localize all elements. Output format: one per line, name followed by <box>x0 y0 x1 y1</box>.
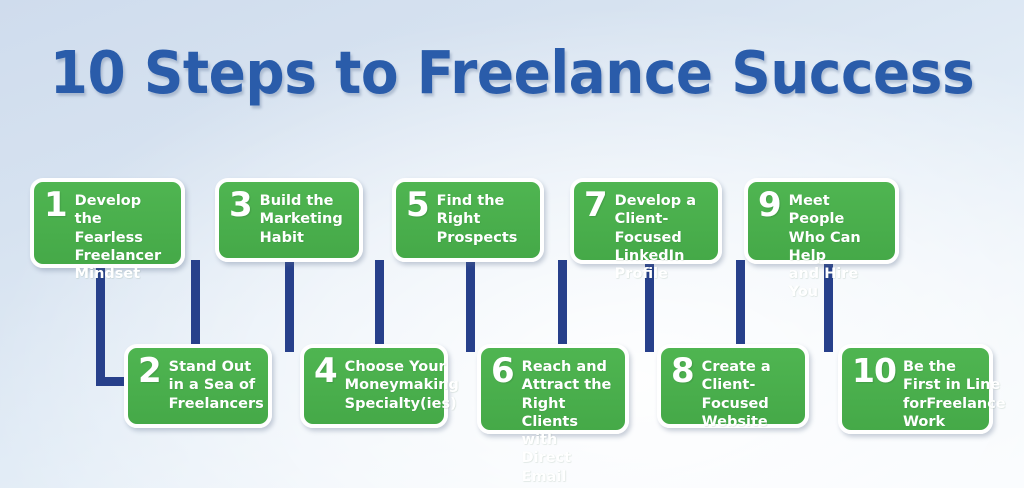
step-label-10: Be the First in Line forFreelance Work <box>903 358 1006 431</box>
step-number-6: 6 <box>491 357 522 386</box>
step-label-1: Develop the Fearless Freelancer Mindset <box>75 192 172 283</box>
step-box-10[interactable]: 10 Be the First in Line forFreelance Wor… <box>838 344 993 434</box>
connector-4-to-5 <box>375 260 384 352</box>
step-box-3[interactable]: 3 Build the Marketing Habit <box>215 178 363 262</box>
connector-6-to-7 <box>558 260 567 352</box>
step-number-5: 5 <box>406 191 437 220</box>
step-label-9: Meet People Who Can Help and Hire You <box>789 192 886 302</box>
step-box-6[interactable]: 6 Reach and Attract the Right Clients wi… <box>477 344 629 434</box>
step-label-2: Stand Out in a Sea of Freelancers <box>169 358 264 413</box>
step-box-4[interactable]: 4 Choose Your Moneymaking Specialty(ies) <box>300 344 448 428</box>
step-label-4: Choose Your Moneymaking Specialty(ies) <box>345 358 459 413</box>
step-box-9[interactable]: 9 Meet People Who Can Help and Hire You <box>744 178 899 264</box>
step-number-3: 3 <box>229 191 260 220</box>
connector-3-to-4 <box>285 260 294 352</box>
connector-2-to-3 <box>191 260 200 352</box>
step-box-2[interactable]: 2 Stand Out in a Sea of Freelancers <box>124 344 272 428</box>
step-number-9: 9 <box>758 191 789 220</box>
connector-5-to-6 <box>466 260 475 352</box>
step-label-5: Find the Right Prospects <box>437 192 531 247</box>
step-number-1: 1 <box>44 191 75 220</box>
step-label-6: Reach and Attract the Right Clients with… <box>522 358 616 486</box>
step-box-5[interactable]: 5 Find the Right Prospects <box>392 178 544 262</box>
infographic-canvas: 10 Steps to Freelance Success 1 Develop … <box>0 0 1024 488</box>
step-number-7: 7 <box>584 191 615 220</box>
step-box-1[interactable]: 1 Develop the Fearless Freelancer Mindse… <box>30 178 185 268</box>
step-label-8: Create a Client-Focused Website <box>702 358 796 431</box>
step-label-3: Build the Marketing Habit <box>260 192 350 247</box>
step-number-4: 4 <box>314 357 345 386</box>
connector-8-to-9 <box>736 260 745 352</box>
step-label-7: Develop a Client-Focused LinkedIn Profil… <box>615 192 709 283</box>
step-box-7[interactable]: 7 Develop a Client-Focused LinkedIn Prof… <box>570 178 722 264</box>
page-title: 10 Steps to Freelance Success <box>36 38 988 107</box>
step-box-8[interactable]: 8 Create a Client-Focused Website <box>657 344 809 428</box>
step-number-2: 2 <box>138 357 169 386</box>
step-number-10: 10 <box>852 357 903 385</box>
step-number-8: 8 <box>671 357 702 386</box>
